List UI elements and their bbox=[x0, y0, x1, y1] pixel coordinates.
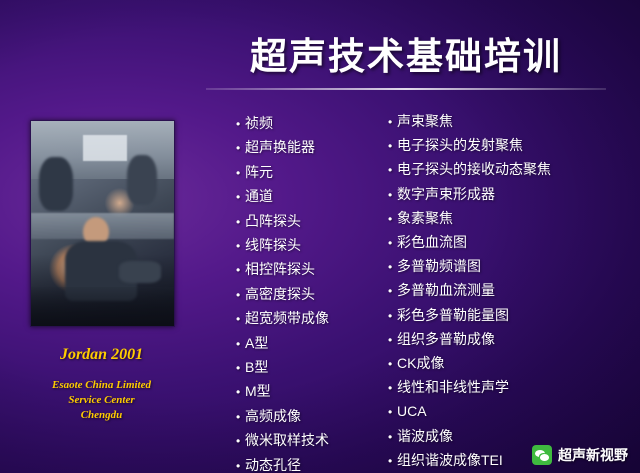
bullet-item-label: 谐波成像 bbox=[397, 425, 453, 448]
bullet-dot-icon: • bbox=[388, 401, 397, 424]
photo-screen bbox=[83, 135, 127, 161]
bullet-item-label: 多普勒血流测量 bbox=[397, 279, 495, 302]
bullet-item-label: 电子探头的发射聚焦 bbox=[397, 134, 523, 157]
bullet-item-label: A型 bbox=[245, 332, 268, 355]
bullet-item: •凸阵探头 bbox=[236, 210, 386, 234]
bullet-item: •祯频 bbox=[236, 112, 386, 136]
bullet-item: •阵元 bbox=[236, 161, 386, 185]
bullet-item-label: 相控阵探头 bbox=[245, 258, 315, 281]
bullet-item: •组织多普勒成像 bbox=[388, 328, 608, 352]
bullet-dot-icon: • bbox=[388, 377, 397, 400]
bullet-dot-icon: • bbox=[236, 113, 245, 136]
bullet-item: •彩色多普勒能量图 bbox=[388, 304, 608, 328]
bullet-dot-icon: • bbox=[236, 186, 245, 209]
bullet-item-label: 线性和非线性声学 bbox=[397, 376, 509, 399]
bullet-dot-icon: • bbox=[236, 357, 245, 380]
bullet-item: •CK成像 bbox=[388, 352, 608, 376]
bullet-dot-icon: • bbox=[388, 280, 397, 303]
bullet-dot-icon: • bbox=[388, 135, 397, 158]
bullet-dot-icon: • bbox=[236, 259, 245, 282]
slide-title: 超声技术基础培训 bbox=[196, 26, 616, 80]
title-underline bbox=[206, 88, 606, 90]
bullet-item-label: 组织多普勒成像 bbox=[397, 328, 495, 351]
bullet-dot-icon: • bbox=[388, 329, 397, 352]
bullet-item-label: 数字声束形成器 bbox=[397, 183, 495, 206]
bullet-dot-icon: • bbox=[388, 208, 397, 231]
bullet-item-label: 彩色血流图 bbox=[397, 231, 467, 254]
bullet-dot-icon: • bbox=[236, 455, 245, 473]
bullet-dot-icon: • bbox=[236, 430, 245, 453]
bullet-item: •超宽频带成像 bbox=[236, 307, 386, 331]
bullet-item-label: 超声换能器 bbox=[245, 136, 315, 159]
bullet-item-label: 多普勒频谱图 bbox=[397, 255, 481, 278]
bullet-dot-icon: • bbox=[388, 111, 397, 134]
photo-frame bbox=[30, 120, 175, 327]
bullet-dot-icon: • bbox=[388, 353, 397, 376]
bullet-item: •声束聚焦 bbox=[388, 110, 608, 134]
bullet-dot-icon: • bbox=[236, 381, 245, 404]
bullet-item-label: 组织谐波成像TEI bbox=[397, 449, 503, 472]
training-classroom-photo bbox=[31, 121, 174, 326]
bullet-item-label: 凸阵探头 bbox=[245, 210, 301, 233]
bullet-item-label: 祯频 bbox=[245, 112, 273, 135]
bullet-item: •微米取样技术 bbox=[236, 429, 386, 453]
bullet-item: •高密度探头 bbox=[236, 283, 386, 307]
bullet-item: •通道 bbox=[236, 185, 386, 209]
bullet-item: •A型 bbox=[236, 332, 386, 356]
bullet-dot-icon: • bbox=[236, 308, 245, 331]
bullet-item-label: B型 bbox=[245, 356, 268, 379]
bullet-item-label: 动态孔径 bbox=[245, 454, 301, 473]
bullet-item-label: 彩色多普勒能量图 bbox=[397, 304, 509, 327]
bullet-item-label: 阵元 bbox=[245, 161, 273, 184]
photo-main-person-arm bbox=[119, 261, 161, 283]
photo-caption: Jordan 2001 bbox=[30, 346, 173, 364]
bullet-item: •UCA bbox=[388, 400, 608, 424]
bullet-column-left: •祯频•超声换能器•阵元•通道•凸阵探头•线阵探头•相控阵探头•高密度探头•超宽… bbox=[236, 112, 386, 473]
bullet-item: •高频成像 bbox=[236, 405, 386, 429]
bullet-item: •B型 bbox=[236, 356, 386, 380]
bullet-dot-icon: • bbox=[236, 211, 245, 234]
bullet-item: •数字声束形成器 bbox=[388, 183, 608, 207]
photo-person-left bbox=[39, 157, 73, 211]
photo-subcaption-line-2: Service Center bbox=[24, 393, 179, 408]
watermark-text: 超声新视野 bbox=[558, 445, 628, 465]
photo-equipment bbox=[31, 287, 174, 327]
bullet-item: •象素聚焦 bbox=[388, 207, 608, 231]
bullet-item: •彩色血流图 bbox=[388, 231, 608, 255]
bullet-dot-icon: • bbox=[236, 406, 245, 429]
bullet-dot-icon: • bbox=[236, 284, 245, 307]
bullet-item: •线阵探头 bbox=[236, 234, 386, 258]
bullet-dot-icon: • bbox=[236, 137, 245, 160]
bullet-item: •线性和非线性声学 bbox=[388, 376, 608, 400]
bullet-item: •M型 bbox=[236, 380, 386, 404]
bullet-dot-icon: • bbox=[388, 159, 397, 182]
bullet-item-label: 超宽频带成像 bbox=[245, 307, 329, 330]
bullet-item-label: CK成像 bbox=[397, 352, 444, 375]
bullet-dot-icon: • bbox=[236, 162, 245, 185]
photo-subcaption: Esaote China Limited Service Center Chen… bbox=[24, 378, 179, 423]
bullet-item: •电子探头的发射聚焦 bbox=[388, 134, 608, 158]
photo-subcaption-line-3: Chengdu bbox=[24, 408, 179, 423]
bullet-dot-icon: • bbox=[388, 256, 397, 279]
bullet-item-label: 高频成像 bbox=[245, 405, 301, 428]
bullet-item: •相控阵探头 bbox=[236, 258, 386, 282]
bullet-dot-icon: • bbox=[388, 305, 397, 328]
bullet-item-label: 线阵探头 bbox=[245, 234, 301, 257]
presentation-slide: 超声技术基础培训 Jordan 2001 Esaote China Limite… bbox=[0, 0, 640, 473]
bullet-dot-icon: • bbox=[388, 232, 397, 255]
bullet-item: •多普勒频谱图 bbox=[388, 255, 608, 279]
bullet-dot-icon: • bbox=[388, 450, 397, 473]
bullet-item-label: 微米取样技术 bbox=[245, 429, 329, 452]
bullet-item: •动态孔径 bbox=[236, 454, 386, 473]
bullet-item-label: UCA bbox=[397, 400, 427, 423]
bullet-item-label: 声束聚焦 bbox=[397, 110, 453, 133]
bullet-dot-icon: • bbox=[236, 235, 245, 258]
bullet-item-label: 电子探头的接收动态聚焦 bbox=[397, 158, 551, 181]
bullet-item-label: 高密度探头 bbox=[245, 283, 315, 306]
bullet-dot-icon: • bbox=[388, 426, 397, 449]
bullet-item-label: 通道 bbox=[245, 185, 273, 208]
bullet-dot-icon: • bbox=[388, 184, 397, 207]
bullet-item: •电子探头的接收动态聚焦 bbox=[388, 158, 608, 182]
bullet-column-right: •声束聚焦•电子探头的发射聚焦•电子探头的接收动态聚焦•数字声束形成器•象素聚焦… bbox=[388, 110, 608, 473]
bullet-item: •多普勒血流测量 bbox=[388, 279, 608, 303]
wechat-icon bbox=[532, 445, 552, 465]
photo-person-right bbox=[127, 155, 157, 205]
bullet-item: •超声换能器 bbox=[236, 136, 386, 160]
bullet-item-label: M型 bbox=[245, 380, 271, 403]
bullet-item-label: 象素聚焦 bbox=[397, 207, 453, 230]
bullet-dot-icon: • bbox=[236, 333, 245, 356]
watermark-badge: 超声新视野 bbox=[532, 445, 628, 465]
photo-subcaption-line-1: Esaote China Limited bbox=[24, 378, 179, 393]
